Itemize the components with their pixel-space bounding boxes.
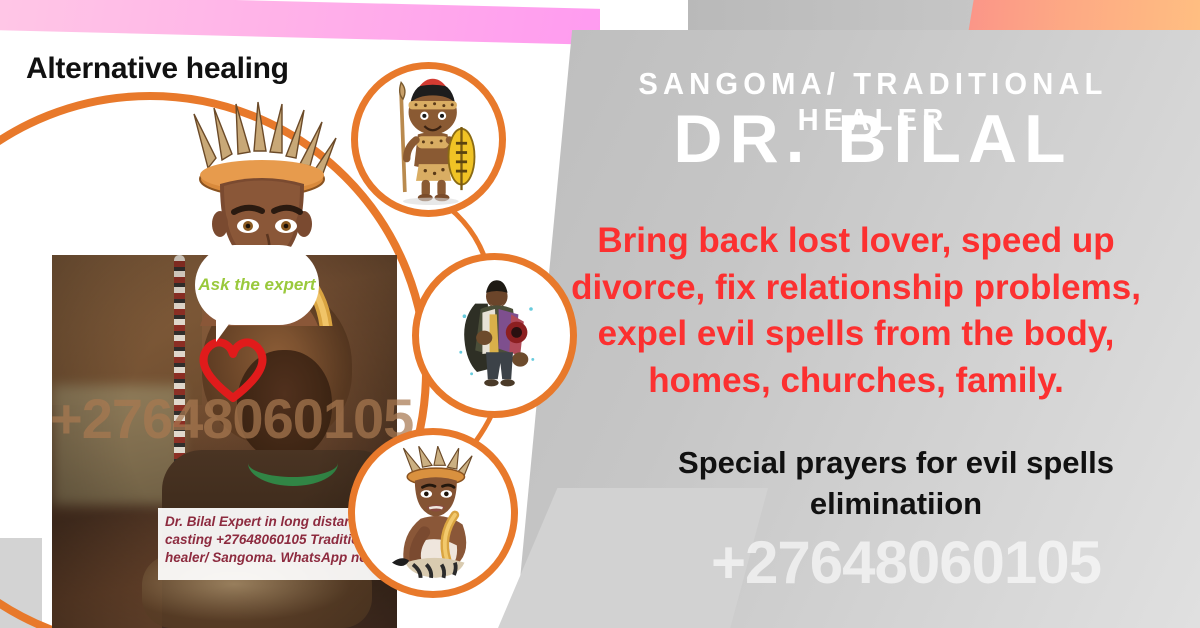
- page-title: Alternative healing: [26, 52, 289, 86]
- circle-zulu-warrior: [351, 62, 506, 217]
- circle-crouching-sangoma: [348, 428, 518, 598]
- services-text: Bring back lost lover, speed up divorce,…: [532, 218, 1180, 404]
- speech-bubble-text: Ask the expert: [198, 276, 315, 294]
- top-orange-bar: [968, 0, 1200, 34]
- speech-bubble: Ask the expert: [198, 248, 316, 322]
- panel-watermark-phone: +27648060105: [612, 528, 1200, 597]
- doctor-name-title: DR. BILAL: [568, 104, 1178, 175]
- poster-canvas: Alternative healing: [0, 0, 1200, 628]
- zulu-warrior-cartoon-icon: [373, 75, 485, 205]
- crouching-sangoma-icon: [371, 446, 495, 580]
- special-offer-text: Special prayers for evil spells eliminat…: [612, 443, 1180, 525]
